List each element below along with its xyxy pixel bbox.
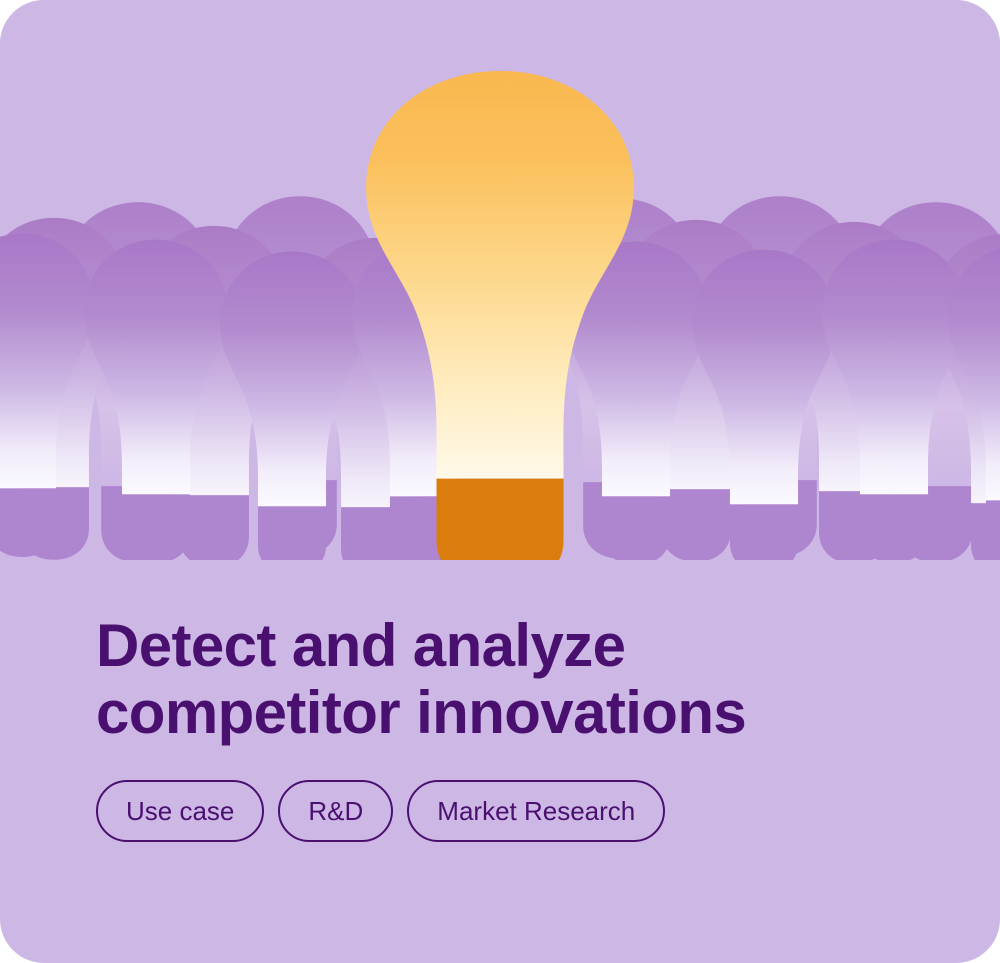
hero-bulb-base xyxy=(437,479,564,560)
tag-market-research[interactable]: Market Research xyxy=(407,780,665,842)
card-text-block: Detect and analyze competitor innovation… xyxy=(0,612,1000,842)
illustration-canvas xyxy=(0,0,1000,560)
tag-use-case[interactable]: Use case xyxy=(96,780,264,842)
tag-list: Use case R&D Market Research xyxy=(96,780,904,842)
lightbulb-crowd-illustration xyxy=(0,0,1000,560)
page-title: Detect and analyze competitor innovation… xyxy=(96,612,896,746)
tag-rnd[interactable]: R&D xyxy=(278,780,393,842)
use-case-card[interactable]: Detect and analyze competitor innovation… xyxy=(0,0,1000,963)
